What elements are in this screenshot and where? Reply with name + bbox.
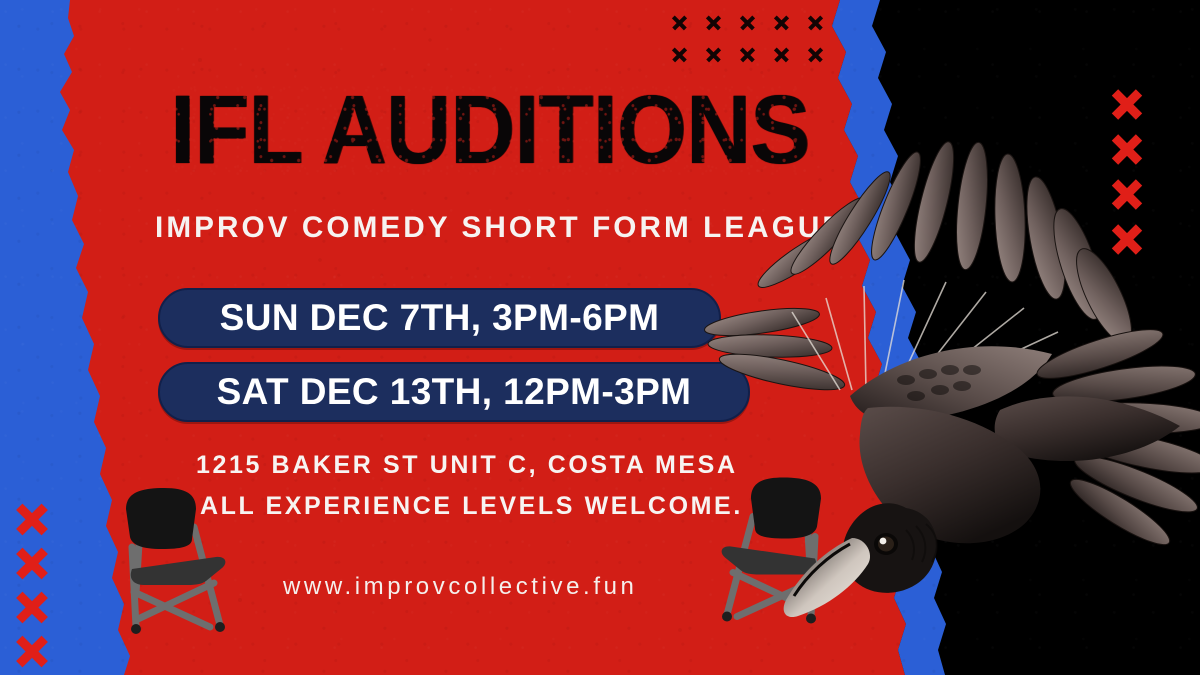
date-badge-1-label: SUN DEC 7TH, 3PM-6PM: [220, 297, 660, 339]
experience-note: ALL EXPERIENCE LEVELS WELCOME.: [200, 492, 743, 521]
x-mark-icon: [1110, 88, 1144, 122]
raven-in-flight-icon: [700, 140, 1200, 660]
venue-address: 1215 BAKER ST UNIT C, COSTA MESA: [196, 451, 738, 480]
raven-beak: [784, 538, 870, 617]
poster-canvas: IFL AUDITIONS IMPROV COMEDY SHORT FORM L…: [0, 0, 1200, 675]
date-badge-2: SAT DEC 13TH, 12PM-3PM: [158, 362, 750, 422]
date-badge-2-label: SAT DEC 13TH, 12PM-3PM: [217, 371, 692, 413]
date-badge-1: SUN DEC 7TH, 3PM-6PM: [158, 288, 721, 348]
website-url: www.improvcollective.fun: [283, 573, 638, 601]
